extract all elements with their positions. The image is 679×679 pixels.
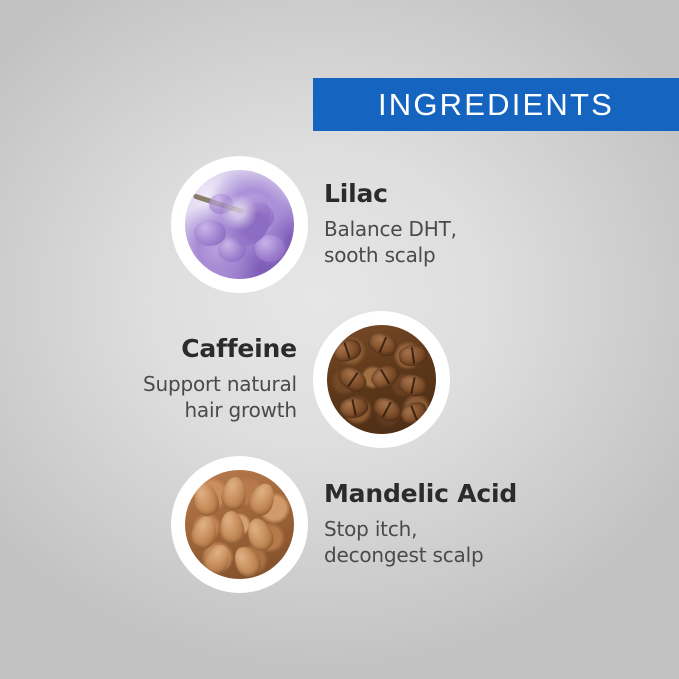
mandelic-acid-description-line-2: decongest scalp <box>324 542 517 568</box>
mandelic-acid-description-line-1: Stop itch, <box>324 516 517 542</box>
ingredients-infographic: INGREDIENTS Lilac Balance DHT, sooth sca… <box>0 0 679 679</box>
lilac-flower-photo <box>185 170 294 279</box>
caffeine-name: Caffeine <box>143 335 297 364</box>
ingredients-banner: INGREDIENTS <box>313 78 679 131</box>
mandelic-acid-text-block: Mandelic Acid Stop itch, decongest scalp <box>324 480 517 569</box>
lilac-image-circle <box>178 163 301 286</box>
caffeine-description-line-2: hair growth <box>143 397 297 423</box>
caffeine-text-block: Caffeine Support natural hair growth <box>143 335 297 424</box>
ingredient-row-caffeine: Caffeine Support natural hair growth <box>143 318 443 441</box>
banner-title: INGREDIENTS <box>378 87 614 123</box>
mandelic-acid-name: Mandelic Acid <box>324 480 517 509</box>
mandelic-acid-image-circle <box>178 463 301 586</box>
ingredient-row-mandelic-acid: Mandelic Acid Stop itch, decongest scalp <box>178 463 517 586</box>
caffeine-image-circle <box>320 318 443 441</box>
lilac-text-block: Lilac Balance DHT, sooth scalp <box>324 180 457 269</box>
coffee-beans-photo <box>327 325 436 434</box>
ingredient-row-lilac: Lilac Balance DHT, sooth scalp <box>178 163 457 286</box>
caffeine-description-line-1: Support natural <box>143 371 297 397</box>
lilac-name: Lilac <box>324 180 457 209</box>
almonds-photo <box>185 470 294 579</box>
lilac-description-line-2: sooth scalp <box>324 242 457 268</box>
lilac-description-line-1: Balance DHT, <box>324 216 457 242</box>
